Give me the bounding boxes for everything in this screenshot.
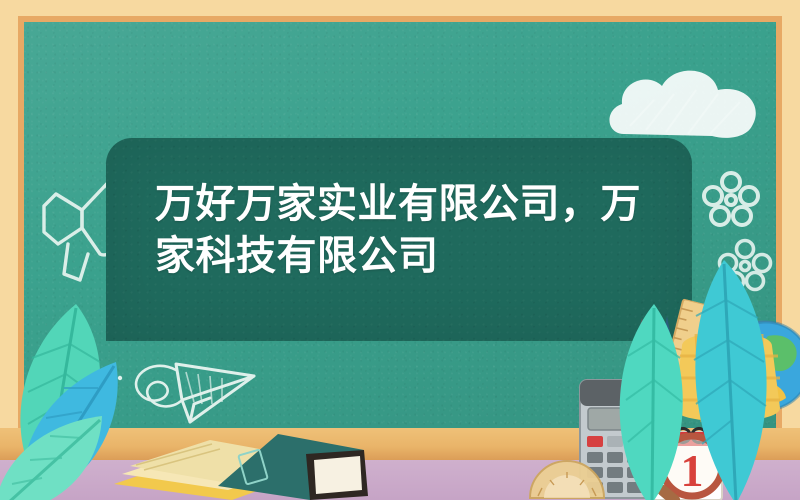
title-line-2: 家科技有限公司 <box>155 230 655 282</box>
banner-canvas: 万好万家实业有限公司，万 家科技有限公司 <box>0 0 800 500</box>
protractor-icon <box>528 452 606 500</box>
magnifying-glass-icon: 1 <box>648 432 732 500</box>
open-book-icon <box>218 424 368 500</box>
page-title: 万好万家实业有限公司，万 家科技有限公司 <box>155 178 655 282</box>
magnified-digit: 1 <box>681 445 704 496</box>
backpack-icon <box>668 322 786 434</box>
title-line-1: 万好万家实业有限公司，万 <box>155 178 655 230</box>
